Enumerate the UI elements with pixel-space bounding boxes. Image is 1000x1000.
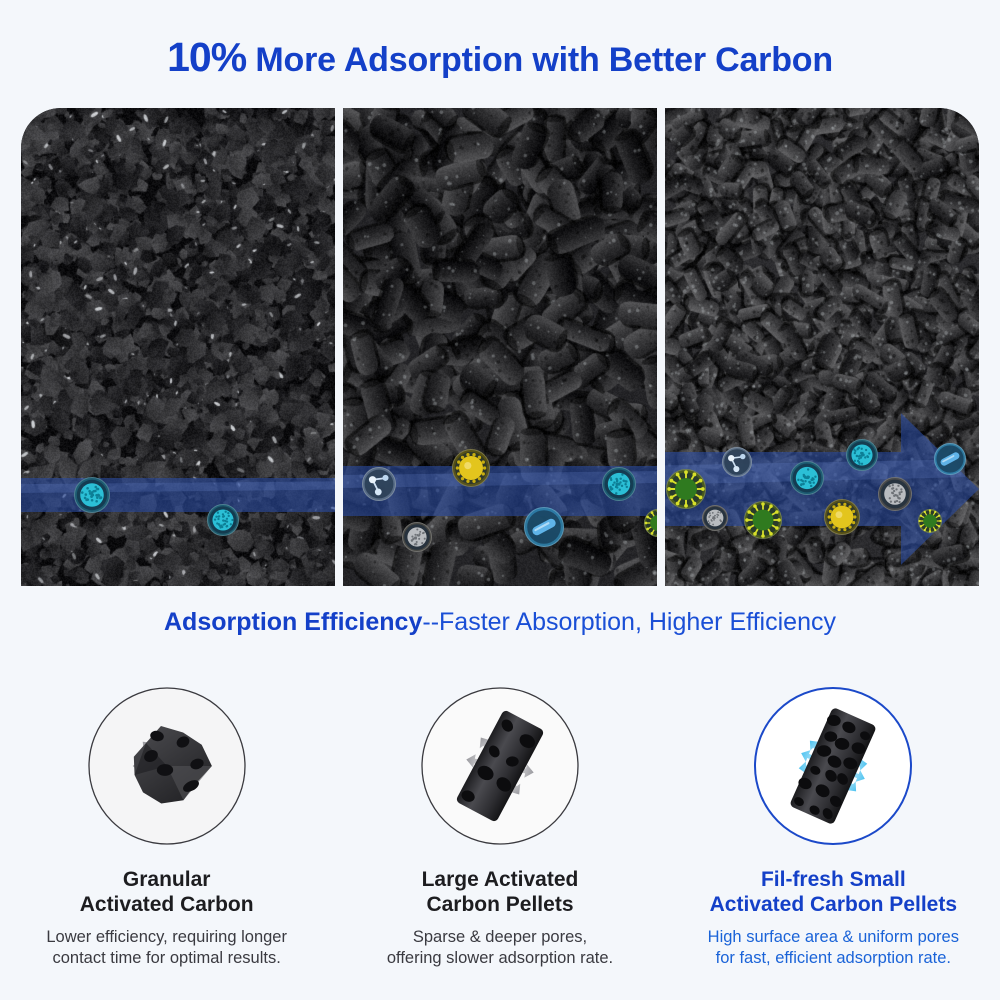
carbon-type-cards: Granular Activated Carbon Lower efficien… [0,678,1000,970]
contaminant-icon-bacteria-rod [523,506,565,553]
title-percent: 10% [167,34,246,80]
card-granular-activated-carbon: Granular Activated Carbon Lower efficien… [0,678,333,970]
contaminant-icon-virus-spiky [643,508,657,543]
card-description: Sparse & deeper pores, offering slower a… [387,927,613,971]
flow-band-panel-1 [21,108,335,586]
subtitle-bold: Adsorption Efficiency [164,608,422,636]
small-pellet-icon [745,678,921,854]
contaminant-icon-sphere-grey [877,476,913,517]
granular-chunk-icon [79,678,255,854]
contaminant-icon-molecule [361,466,397,507]
subtitle-rest: --Faster Absorption, Higher Efficiency [422,608,836,636]
contaminant-icon-molecule [721,446,753,483]
contaminant-icon-dots-cluster [206,503,240,542]
contaminant-icon-virus-blob [823,498,861,541]
contaminant-icon-dots-cluster [73,476,111,519]
card-title: Large Activated Carbon Pellets [422,868,579,918]
card-large-activated-carbon-pellets: Large Activated Carbon Pellets Sparse & … [333,678,666,970]
title-text: More Adsorption with Better Carbon [255,41,833,79]
large-pellet-icon [412,678,588,854]
card-description: Lower efficiency, requiring longer conta… [46,927,287,971]
panel-small-pellets [665,108,979,586]
contaminant-icon-virus-spiky [917,508,943,539]
comparison-photo-strip [21,108,979,586]
contaminant-icon-sphere-grey [401,521,433,558]
contaminant-icon-sphere-grey [701,504,729,537]
card-description: High surface area & uniform pores for fa… [708,927,959,971]
contaminant-icon-virus-blob [451,448,491,493]
contaminant-icon-dots-cluster [845,438,879,477]
infographic-root: 10% More Adsorption with Better Carbon [0,0,1000,1000]
section-subtitle: Adsorption Efficiency--Faster Absorption… [0,608,1000,637]
card-filfresh-small-activated-carbon-pellets: Fil-fresh Small Activated Carbon Pellets… [667,678,1000,970]
flow-band-panel-2 [343,108,657,586]
panel-large-pellets [343,108,657,586]
card-title: Granular Activated Carbon [80,868,254,918]
panel-granular-carbon [21,108,335,586]
card-title: Fil-fresh Small Activated Carbon Pellets [710,868,957,918]
contaminant-icon-virus-spiky [743,500,783,545]
contaminant-icon-dots-cluster [601,466,637,507]
contaminant-icon-dots-cluster [789,460,825,501]
contaminant-icon-bacteria-rod [933,442,967,481]
page-title: 10% More Adsorption with Better Carbon [0,34,1000,81]
